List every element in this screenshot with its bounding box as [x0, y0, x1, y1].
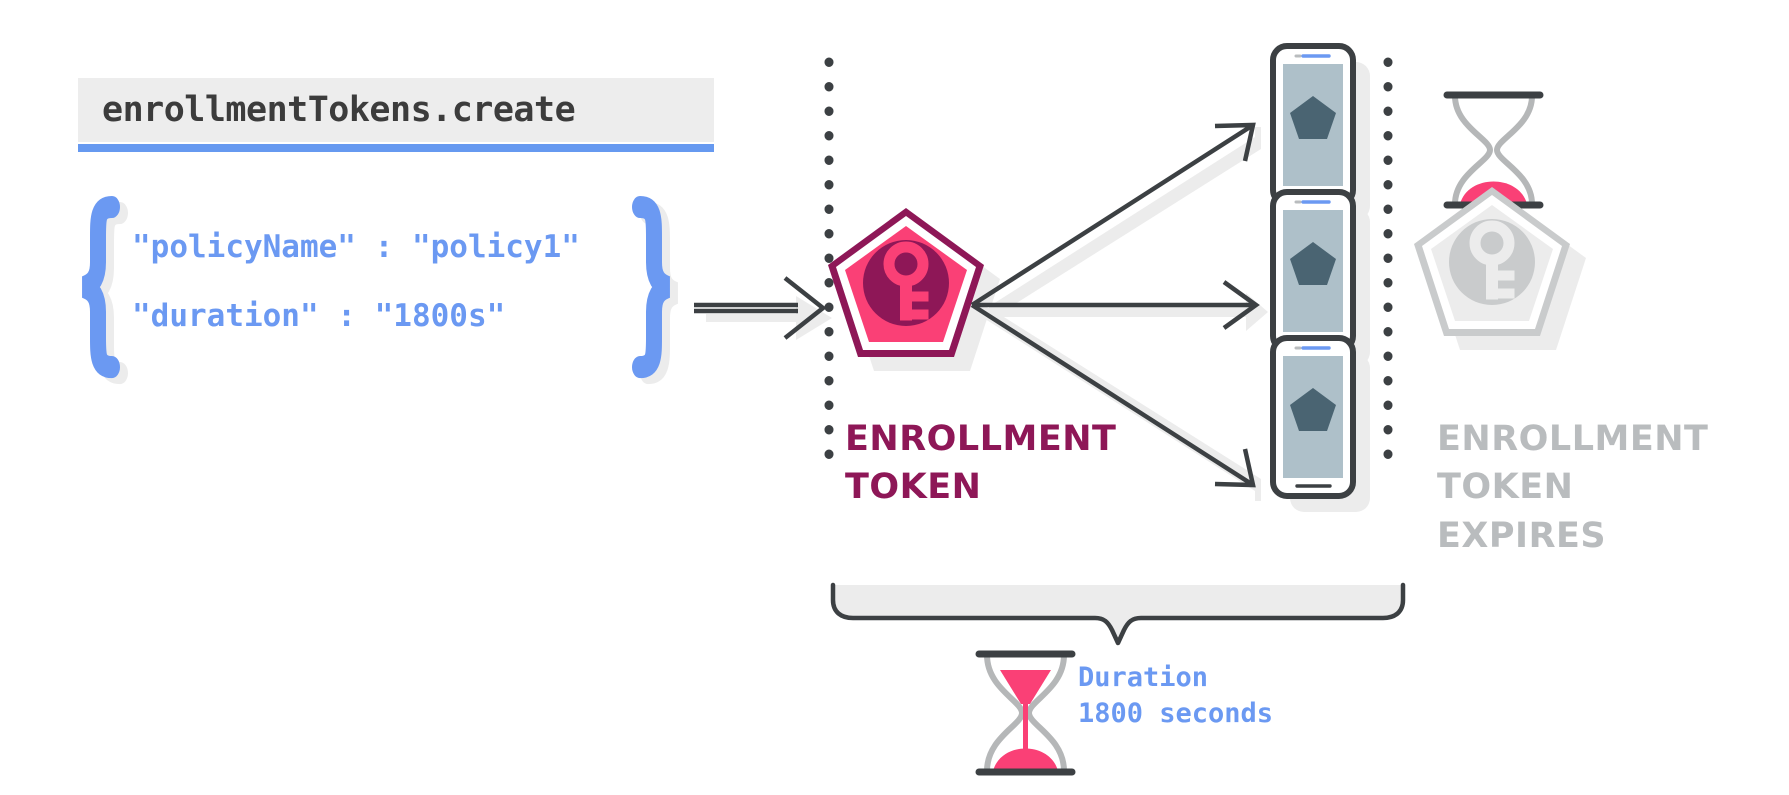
- mobile-device-icon: [1273, 338, 1370, 512]
- enrollment-token-expires-label: ENROLLMENT TOKEN EXPIRES: [1437, 415, 1708, 560]
- api-method-title-bar: enrollmentTokens.create: [78, 78, 714, 142]
- request-body-json: "policyName" : "policy1" "duration" : "1…: [132, 232, 652, 370]
- api-method-title: enrollmentTokens.create: [78, 90, 575, 130]
- arrow-right-icon: [694, 278, 832, 340]
- enrollment-token-label: ENROLLMENT TOKEN: [845, 415, 1116, 512]
- key-pentagon-token-icon: [828, 208, 1000, 371]
- arrow-right-icon: [972, 125, 1261, 321]
- json-line-policy-name: "policyName" : "policy1": [132, 232, 652, 263]
- api-title-underline: [78, 144, 714, 152]
- duration-brace-icon: [833, 585, 1403, 643]
- duration-caption: Duration 1800 seconds: [1078, 660, 1273, 733]
- hourglass-running-icon: [979, 654, 1072, 772]
- diagram-canvas: enrollmentTokens.create "policyName" : "…: [0, 0, 1789, 795]
- curly-brace-icon: [84, 207, 120, 373]
- key-pentagon-token-expired-icon: [1414, 187, 1586, 350]
- json-line-duration: "duration" : "1800s": [132, 301, 652, 332]
